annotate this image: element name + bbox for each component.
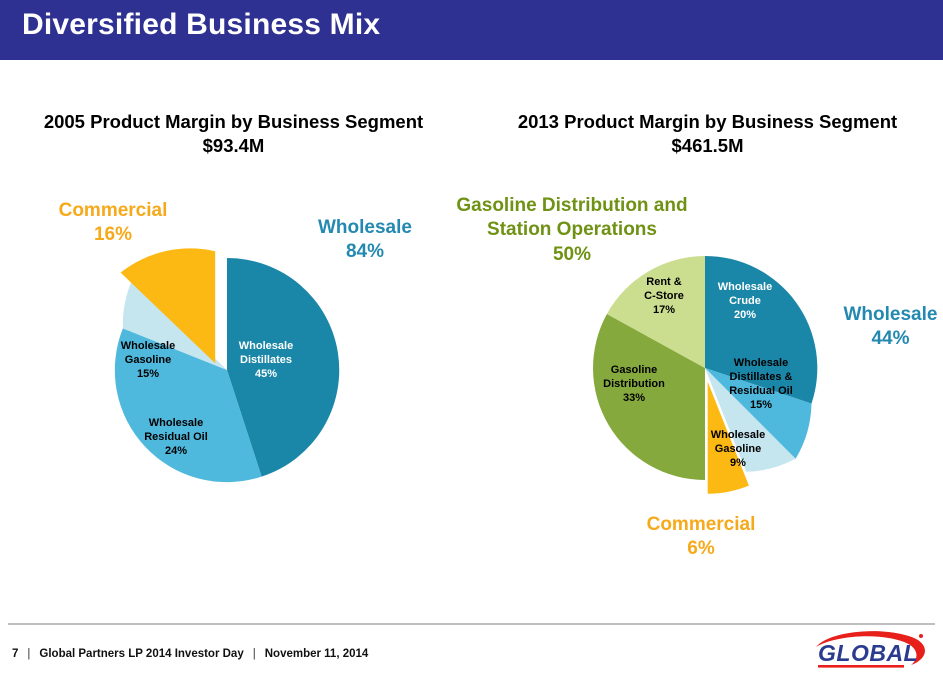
logo-wordmark: GLOBAL [818, 640, 918, 666]
slide-title: Diversified Business Mix [22, 8, 380, 42]
footer: 7 | Global Partners LP 2014 Investor Day… [10, 648, 368, 660]
global-logo: GLOBAL [808, 628, 936, 672]
footer-date: November 11, 2014 [265, 648, 369, 660]
right-chart-title-text: 2013 Product Margin by Business Segment [518, 111, 897, 132]
footer-company: Global Partners LP 2014 Investor Day [39, 648, 243, 660]
callout-wholesale-2005: Wholesale 84% [295, 216, 435, 265]
footer-divider [8, 623, 935, 625]
right-chart-amount: $461.5M [480, 134, 935, 158]
callout-gasoline-distribution-2013: Gasoline Distribution and Station Operat… [452, 194, 692, 267]
callout-commercial-2013: Commercial 6% [616, 513, 786, 562]
logo-dot [919, 634, 923, 638]
left-chart-amount: $93.4M [6, 134, 461, 158]
right-chart-title: 2013 Product Margin by Business Segment … [480, 110, 935, 159]
left-chart-title-text: 2005 Product Margin by Business Segment [44, 111, 423, 132]
callout-wholesale-2013: Wholesale 44% [838, 303, 943, 352]
footer-separator-1: | [18, 648, 39, 660]
pie-chart-2013: Wholesale Crude 20% Wholesale Distillate… [580, 238, 845, 503]
logo-underline [818, 665, 904, 668]
footer-separator-2: | [244, 648, 265, 660]
left-chart-title: 2005 Product Margin by Business Segment … [6, 110, 461, 159]
page-number: 7 [10, 648, 18, 660]
pie-chart-2005: Wholesale Distillates 45% Wholesale Resi… [95, 238, 360, 503]
callout-commercial-2005: Commercial 16% [38, 199, 188, 248]
